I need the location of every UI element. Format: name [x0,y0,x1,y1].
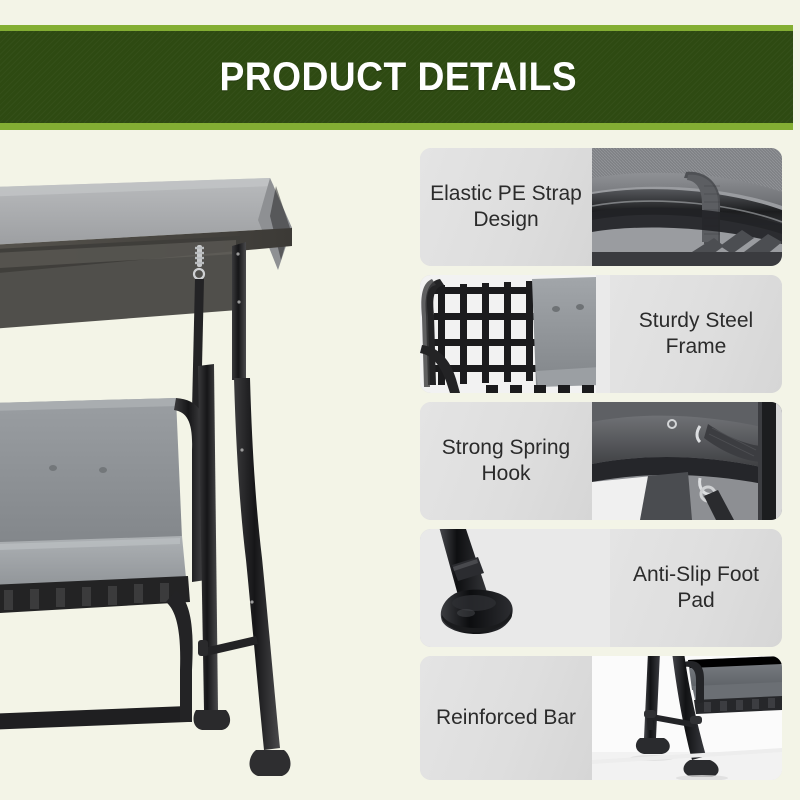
sturdy-steel-frame-photo [420,275,610,393]
feature-label: Sturdy Steel Frame [618,308,774,359]
feature-card-text: Reinforced Bar [420,656,592,780]
banner-stripe-bottom [0,123,793,130]
reinforced-bar-photo [592,656,782,780]
feature-card-elastic-pe-strap[interactable]: Elastic PE Strap Design [420,148,782,266]
banner-core: PRODUCT DETAILS [0,31,793,124]
feature-card-list: Elastic PE Strap Design [420,148,782,780]
page-header-banner: PRODUCT DETAILS [0,25,793,130]
strong-spring-hook-photo [592,402,782,520]
feature-card-sturdy-steel-frame[interactable]: Sturdy Steel Frame [420,275,782,393]
feature-card-text: Anti-Slip Foot Pad [610,529,782,647]
feature-card-strong-spring-hook[interactable]: Strong Spring Hook [420,402,782,520]
porch-swing-product-photo [0,150,360,790]
feature-card-reinforced-bar[interactable]: Reinforced Bar [420,656,782,780]
feature-card-text: Sturdy Steel Frame [610,275,782,393]
feature-card-text: Strong Spring Hook [420,402,592,520]
elastic-pe-strap-photo [592,148,782,266]
feature-label: Reinforced Bar [436,705,576,731]
feature-card-text: Elastic PE Strap Design [420,148,592,266]
anti-slip-foot-pad-photo [420,529,610,647]
feature-label: Anti-Slip Foot Pad [618,562,774,613]
feature-card-anti-slip-foot-pad[interactable]: Anti-Slip Foot Pad [420,529,782,647]
feature-label: Strong Spring Hook [428,435,584,486]
page-title: PRODUCT DETAILS [220,55,578,100]
feature-label: Elastic PE Strap Design [428,181,584,232]
